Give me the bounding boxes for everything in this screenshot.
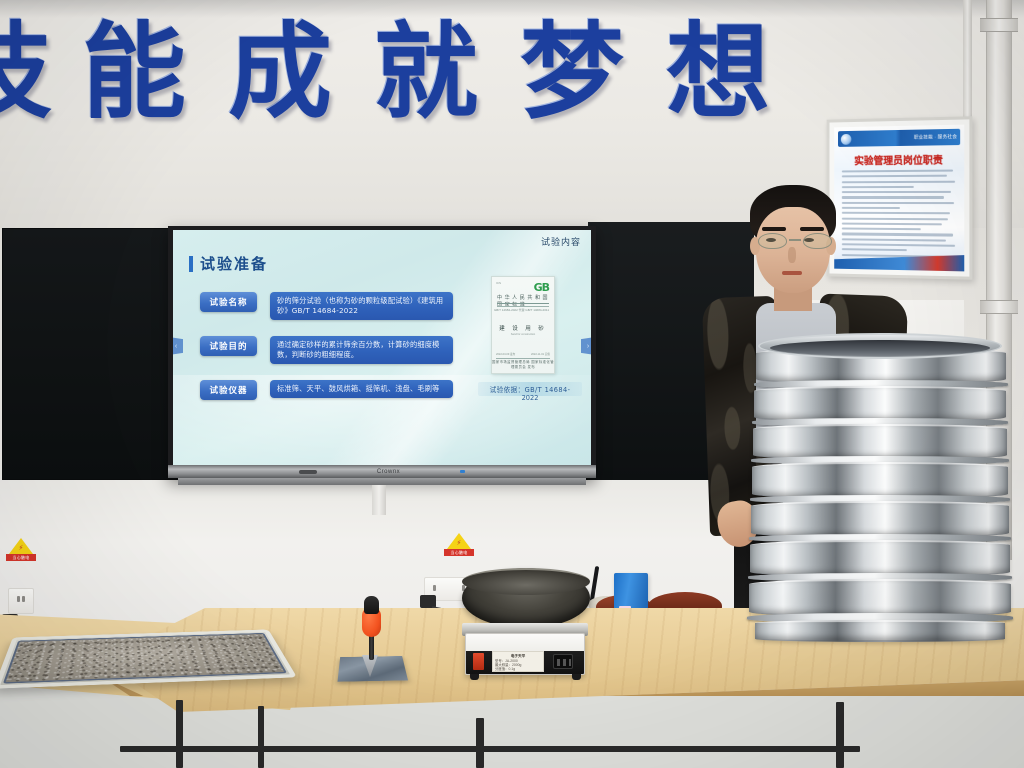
slide-title: 试验准备 [189, 253, 268, 274]
sieve-6 [750, 540, 1010, 577]
sieve-5 [751, 501, 1009, 538]
balance-foot-left [470, 674, 479, 680]
eyebrow-left [762, 227, 786, 231]
standard-sieve-stack [744, 334, 1016, 640]
sand-texture [6, 634, 285, 682]
display-shelf [178, 478, 586, 485]
hazard-sign-label-left: 当心触电 [6, 554, 36, 561]
nose [788, 247, 796, 263]
table-leg-1 [176, 700, 183, 768]
sieve-7 [749, 579, 1011, 617]
gb-standard-cover: ICS GB 中 华 人 民 共 和 国 国 家 标 准 GB/T 14684-… [491, 276, 555, 374]
table-leg-2 [258, 706, 264, 768]
row-label-1: 试验名称 [200, 292, 257, 312]
lens-right [803, 233, 832, 249]
lab-scene-photo: 技 能 成 就 梦 想 职业技能 · 服务社会 实验管理员岗位职责 [0, 0, 1024, 768]
slide-prev-arrow-icon[interactable]: ‹ [173, 337, 183, 355]
interactive-display[interactable]: 试验内容 试验准备 试验名称 砂的筛分试验（也称为砂的颗粒级配试验）《建筑用砂》… [168, 226, 596, 478]
glasses-bridge [789, 239, 801, 241]
slogan-char-2: 能 [82, 18, 186, 126]
row-label-2: 试验目的 [200, 336, 257, 356]
gb-mark: GB [534, 281, 549, 294]
slide-title-text: 试验准备 [200, 253, 268, 274]
display-bottom-bezel: Crownx [168, 465, 596, 478]
gb-footer-right: 2022-11-01 实施 [531, 352, 550, 356]
poster-header: 职业技能 · 服务社会 [838, 129, 960, 147]
slide-section-label: 试验内容 [541, 235, 581, 248]
electric-shock-icon-left [9, 538, 33, 554]
electric-shock-icon-right [447, 533, 471, 549]
table-leg-4 [836, 702, 844, 768]
balance-label-line-4: 电源：AC 220V 50Hz [495, 671, 528, 672]
slide-row-experiment-apparatus: 试验仪器 标准筛、天平、鼓风烘箱、摇筛机、浅盘、毛刷等 [200, 380, 453, 400]
wall-socket-left[interactable] [8, 588, 34, 614]
sieve-4 [752, 462, 1008, 499]
row-value-3: 标准筛、天平、鼓风烘箱、摇筛机、浅盘、毛刷等 [270, 380, 453, 398]
power-led-icon [460, 470, 465, 473]
slide-row-experiment-name: 试验名称 砂的筛分试验（也称为砂的颗粒级配试验）《建筑用砂》GB/T 14684… [200, 292, 453, 320]
wall-slogan: 技 能 成 就 梦 想 [0, 18, 842, 130]
gb-footer-left: 2022-03-09 发布 [496, 352, 515, 356]
gb-english-title: Sand for construction [492, 333, 554, 336]
sieve-base-pan [755, 620, 1005, 642]
slide-reference-line-2: 2022 [478, 394, 582, 402]
electric-hazard-sign-left: 当心触电 [6, 538, 36, 560]
slide-next-arrow-icon[interactable]: › [581, 337, 591, 355]
pipe-band-upper [980, 18, 1018, 32]
poster-title: 实验管理员岗位职责 [834, 151, 964, 167]
balance-power-socket[interactable] [553, 654, 573, 669]
gb-sub-line: GB/T 14684-2022 代替 GB/T 14684-2011 [494, 308, 549, 312]
pipe-band-lower [980, 300, 1018, 314]
title-accent-bar [189, 256, 193, 272]
poster-header-text: 职业技能 · 服务社会 [914, 134, 957, 141]
row-value-1: 砂的筛分试验（也称为砂的颗粒级配试验）《建筑用砂》GB/T 14684-2022 [270, 292, 453, 320]
table-leg-3 [476, 718, 484, 768]
ir-sensor-icon [299, 470, 317, 474]
electric-hazard-sign-right: 当心触电 [444, 533, 474, 555]
table-cross-brace [120, 746, 860, 752]
slogan-char-6: 想 [666, 18, 770, 126]
display-brand-logo: Crownx [377, 469, 400, 475]
gb-rule-2 [497, 306, 549, 307]
slide-row-experiment-purpose: 试验目的 通过确定砂样的累计筛余百分数，计算砂的细度模数，判断砂的粗细程度。 [200, 336, 453, 364]
glasses-icon [756, 233, 834, 249]
hazard-sign-label-right: 当心触电 [444, 549, 474, 556]
trowel-cap [364, 596, 379, 614]
tray-sand-bed [3, 633, 287, 684]
presentation-slide: 试验内容 试验准备 试验名称 砂的筛分试验（也称为砂的颗粒级配试验）《建筑用砂》… [173, 230, 591, 465]
slogan-char-5: 梦 [520, 18, 624, 126]
sieve-3 [753, 424, 1007, 460]
school-logo-icon [841, 133, 852, 144]
gb-doc-title: 建 设 用 砂 [492, 324, 554, 332]
row-label-3: 试验仪器 [200, 380, 257, 400]
display-stand [372, 485, 386, 515]
slogan-char-1: 技 [0, 18, 52, 126]
row-value-2: 通过确定砂样的累计筛余百分数，计算砂的细度模数，判断砂的粗细程度。 [270, 336, 453, 364]
gb-publisher: 国家市场监督管理总局 国家标准化管理委员会 发布 [492, 359, 554, 369]
balance-spec-label: 电子天平 型号：JA-2000 最大称量：2000g 分度值：0.1g 电源：A… [492, 651, 544, 672]
sieve-2 [754, 386, 1006, 422]
gb-corner-code: ICS [496, 281, 501, 285]
gb-rule-1 [497, 303, 549, 304]
mouth [782, 271, 802, 275]
balance-label-title: 电子天平 [495, 654, 541, 658]
slogan-char-3: 成 [228, 18, 332, 126]
balance-foot-right [572, 674, 581, 680]
slogan-char-4: 就 [374, 18, 478, 126]
balance-power-button[interactable] [473, 653, 484, 670]
lens-left [758, 233, 787, 249]
sieve-mesh-opening [770, 340, 990, 356]
eyebrow-right [800, 227, 824, 231]
balance-pan-rim [462, 568, 590, 595]
